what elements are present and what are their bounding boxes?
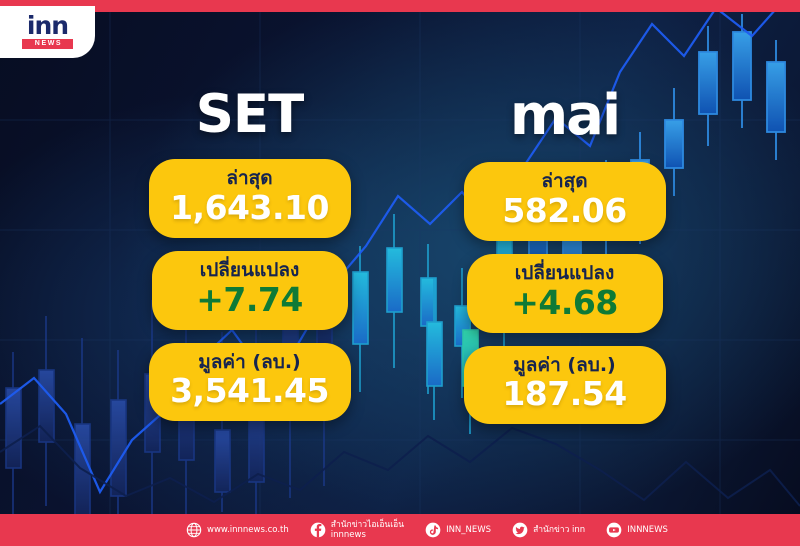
- footer-line1: สำนักข่าวไอเอ็นเอ็น: [331, 520, 404, 530]
- footer-label: สำนักข่าว inn: [533, 525, 585, 535]
- top-accent-bar: [0, 0, 800, 12]
- tiktok-icon: [425, 522, 441, 538]
- globe-icon: [186, 522, 202, 538]
- card-label: ล่าสุด: [155, 168, 345, 190]
- logo-news-badge: NEWS: [22, 39, 73, 49]
- footer-label: INN_NEWS: [446, 525, 491, 535]
- card-mai-change: เปลี่ยนแปลง +4.68: [467, 254, 663, 333]
- background-chart: [0, 0, 800, 546]
- index-column-mai: mai ล่าสุด 582.06 เปลี่ยนแปลง +4.68 มูลค…: [462, 88, 667, 437]
- footer-line1: www.innnews.co.th: [207, 525, 289, 535]
- footer-label: INNNEWS: [627, 525, 668, 535]
- footer-line1: INNNEWS: [627, 525, 668, 535]
- footer-social-bar: www.innnews.co.th สำนักข่าวไอเอ็นเอ็น in…: [0, 514, 800, 546]
- footer-item-youtube[interactable]: INNNEWS: [606, 522, 668, 538]
- footer-line2: innnews: [331, 530, 404, 540]
- card-value: +4.68: [473, 285, 657, 322]
- card-mai-value: มูลค่า (ลบ.) 187.54: [464, 346, 666, 425]
- footer-line1: INN_NEWS: [446, 525, 491, 535]
- card-value: 1,643.10: [155, 190, 345, 227]
- card-label: มูลค่า (ลบ.): [155, 352, 345, 374]
- logo-wordmark: inn: [27, 15, 68, 38]
- footer-item-tiktok[interactable]: INN_NEWS: [425, 522, 491, 538]
- twitter-icon: [512, 522, 528, 538]
- footer-item-facebook[interactable]: สำนักข่าวไอเอ็นเอ็น innnews: [310, 520, 404, 540]
- card-value: +7.74: [158, 282, 342, 319]
- card-value: 3,541.45: [155, 373, 345, 410]
- card-set-latest: ล่าสุด 1,643.10: [149, 159, 351, 238]
- card-label: มูลค่า (ลบ.): [470, 355, 660, 377]
- card-value: 187.54: [470, 376, 660, 413]
- card-label: เปลี่ยนแปลง: [473, 263, 657, 285]
- card-label: ล่าสุด: [470, 171, 660, 193]
- footer-item-website[interactable]: www.innnews.co.th: [186, 522, 289, 538]
- card-set-change: เปลี่ยนแปลง +7.74: [152, 251, 348, 330]
- footer-line1: สำนักข่าว inn: [533, 525, 585, 535]
- footer-label: www.innnews.co.th: [207, 525, 289, 535]
- card-value: 582.06: [470, 193, 660, 230]
- infographic-stage: inn NEWS SET ล่าสุด 1,643.10 เปลี่ยนแปลง…: [0, 0, 800, 546]
- card-label: เปลี่ยนแปลง: [158, 260, 342, 282]
- inn-news-logo: inn NEWS: [0, 6, 95, 58]
- facebook-icon: [310, 522, 326, 538]
- footer-label: สำนักข่าวไอเอ็นเอ็น innnews: [331, 520, 404, 540]
- card-set-value: มูลค่า (ลบ.) 3,541.45: [149, 343, 351, 422]
- index-title-set: SET: [147, 88, 352, 141]
- index-title-mai: mai: [462, 88, 667, 144]
- card-mai-latest: ล่าสุด 582.06: [464, 162, 666, 241]
- youtube-icon: [606, 522, 622, 538]
- index-column-set: SET ล่าสุด 1,643.10 เปลี่ยนแปลง +7.74 มู…: [147, 88, 352, 434]
- footer-item-twitter[interactable]: สำนักข่าว inn: [512, 522, 585, 538]
